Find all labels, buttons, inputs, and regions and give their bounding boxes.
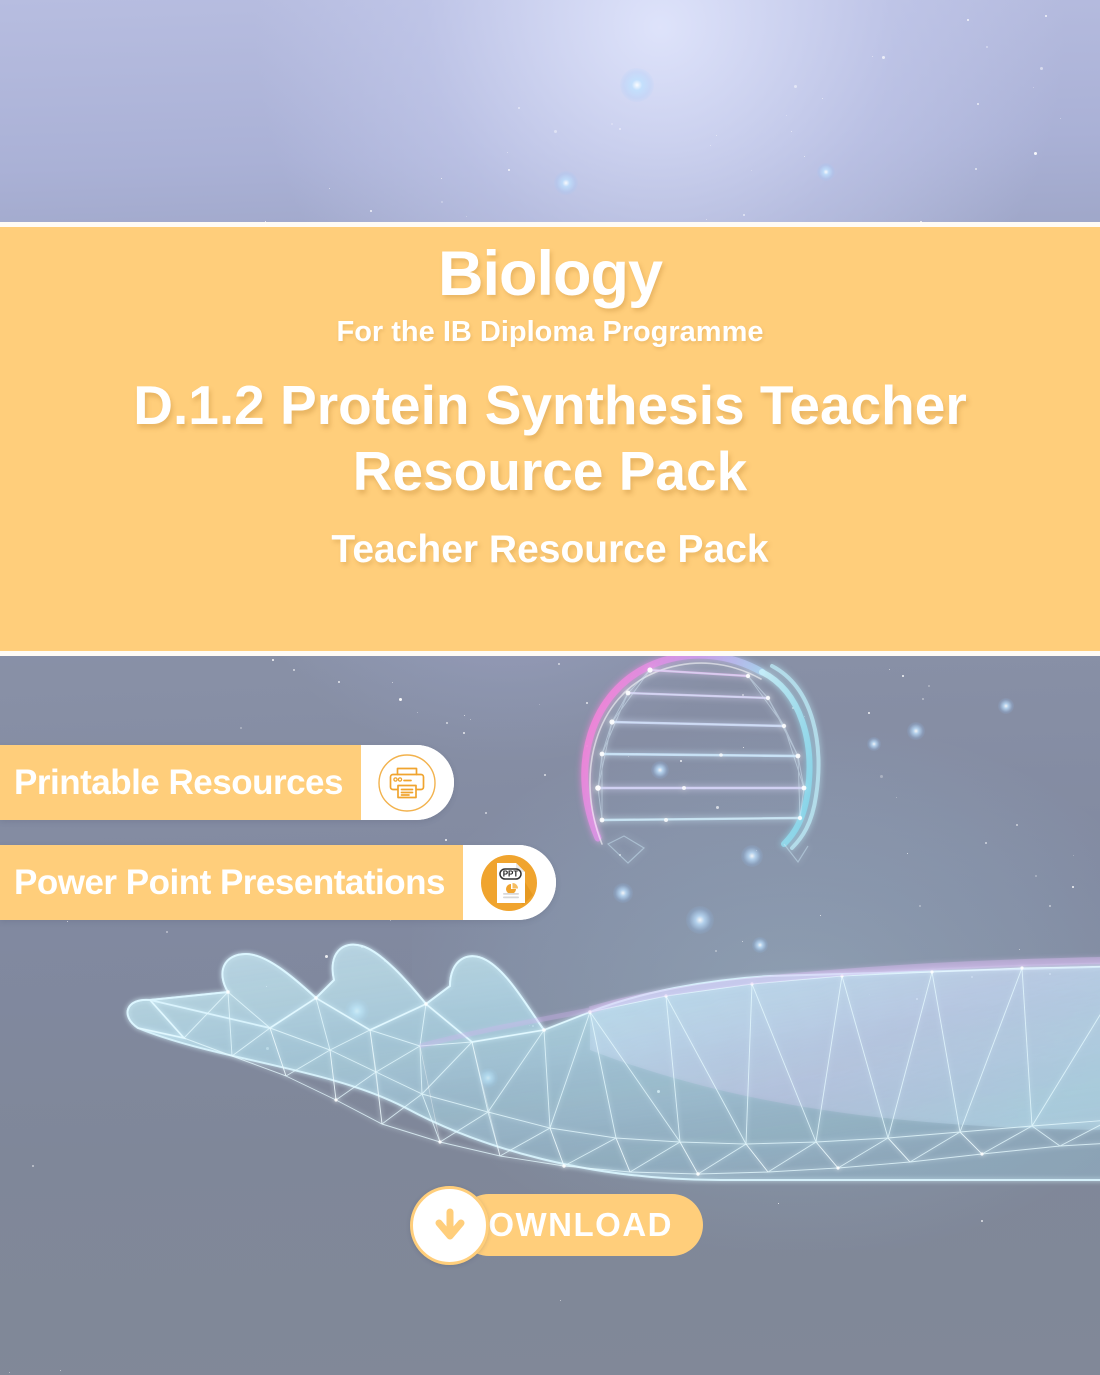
download-arrow-icon[interactable]	[410, 1186, 489, 1265]
programme-subtitle: For the IB Diploma Programme	[336, 314, 763, 350]
badge-label-printable: Printable Resources	[0, 745, 361, 820]
title-band: Biology For the IB Diploma Programme D.1…	[0, 222, 1100, 656]
background-gradient	[0, 0, 1100, 1375]
page-title: D.1.2 Protein Synthesis Teacher Resource…	[20, 372, 1080, 504]
badge-powerpoint-presentations[interactable]: Power Point Presentations PPT	[0, 845, 556, 920]
download-pill[interactable]: DOWNLOAD	[458, 1194, 703, 1256]
badge-printable-resources[interactable]: Printable Resources	[0, 745, 454, 820]
download-button[interactable]: DOWNLOAD	[410, 1186, 489, 1265]
powerpoint-file-icon: PPT	[463, 845, 556, 920]
download-label: DOWNLOAD	[463, 1206, 673, 1244]
course-title: Biology	[438, 243, 662, 306]
printer-icon	[361, 745, 454, 820]
badge-label-powerpoint: Power Point Presentations	[0, 845, 463, 920]
poster-canvas: Biology For the IB Diploma Programme D.1…	[0, 0, 1100, 1375]
resource-type-label: Teacher Resource Pack	[331, 528, 768, 572]
ppt-icon-text: PPT	[503, 869, 519, 878]
